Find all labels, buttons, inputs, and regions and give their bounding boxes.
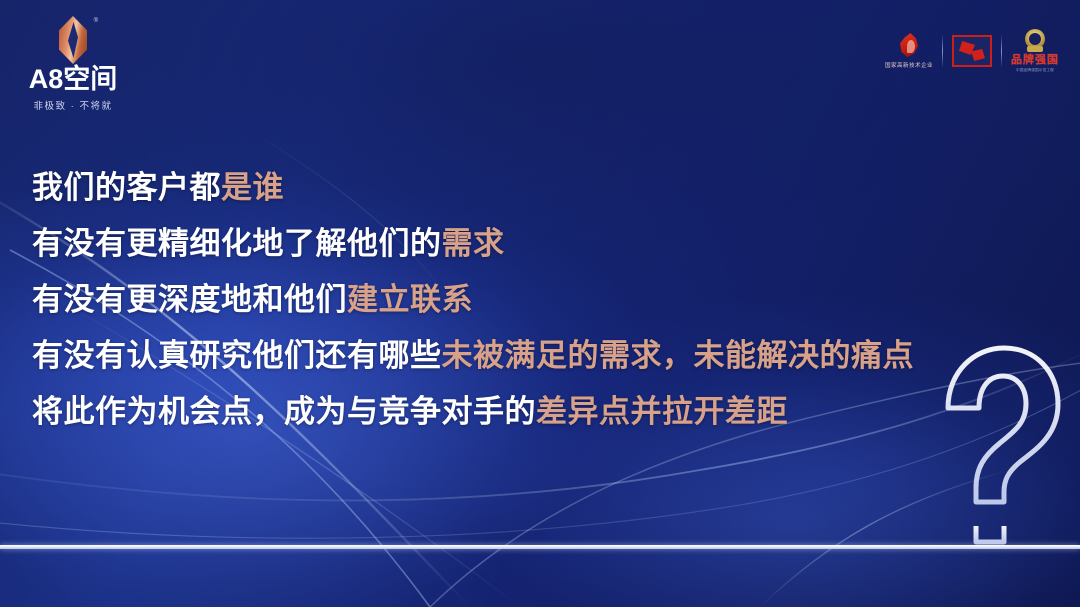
copy-line-2-plain: 有没有更精细化地了解他们的 — [32, 226, 442, 261]
slide-canvas: ® A8空间 非极致 · 不将就 国家高新技术企业 品牌强国 中国品牌强国示范工… — [0, 0, 1080, 607]
a8-diamond-logo-icon: ® — [53, 16, 93, 64]
copy-line-5-plain: 将此作为机会点，成为与竞争对手的 — [32, 394, 536, 429]
slide-header: ® A8空间 非极致 · 不将就 国家高新技术企业 品牌强国 中国品牌强国示范工… — [0, 0, 1080, 120]
copy-line-1-highlight: 是谁 — [221, 170, 284, 205]
registered-mark: ® — [94, 18, 98, 24]
copy-line-1: 我们的客户都是谁 — [32, 172, 992, 203]
copy-line-3-highlight: 建立联系 — [347, 282, 473, 317]
badge-caption-brand-power: 品牌强国 — [1011, 51, 1059, 67]
copy-line-3-plain: 有没有更深度地和他们 — [32, 282, 347, 317]
copy-line-5: 将此作为机会点，成为与竞争对手的差异点并拉开差距 — [32, 396, 992, 427]
question-mark-graphic — [932, 330, 1072, 550]
red-seal-icon — [952, 35, 992, 67]
copy-line-4: 有没有认真研究他们还有哪些未被满足的需求，未能解决的痛点 — [32, 340, 992, 371]
slide-body-copy: 我们的客户都是谁 有没有更精细化地了解他们的需求 有没有更深度地和他们建立联系 … — [32, 172, 992, 452]
flame-icon — [898, 33, 920, 59]
copy-line-2: 有没有更精细化地了解他们的需求 — [32, 228, 992, 259]
copy-line-2-highlight: 需求 — [442, 226, 505, 261]
medal-icon — [1025, 29, 1045, 49]
badge-caption-high-tech: 国家高新技术企业 — [885, 61, 933, 69]
bottom-divider-rule — [0, 545, 1080, 549]
logo-wordmark: A8空间 — [14, 66, 132, 93]
badge-brand-power: 品牌强国 中国品牌强国示范工程 — [1002, 29, 1068, 73]
badge-high-tech-enterprise: 国家高新技术企业 — [876, 33, 942, 69]
certification-badges: 国家高新技术企业 品牌强国 中国品牌强国示范工程 — [876, 22, 1068, 80]
copy-line-1-plain: 我们的客户都 — [32, 170, 221, 205]
copy-line-5-highlight: 差异点并拉开差距 — [536, 394, 788, 429]
brand-logo: ® A8空间 非极致 · 不将就 — [14, 16, 132, 112]
logo-tagline: 非极致 · 不将就 — [14, 98, 132, 112]
copy-line-4-plain: 有没有认真研究他们还有哪些 — [32, 338, 442, 373]
badge-red-seal — [943, 35, 1001, 67]
copy-line-3: 有没有更深度地和他们建立联系 — [32, 284, 992, 315]
badge-sub-brand-power: 中国品牌强国示范工程 — [1016, 68, 1054, 73]
copy-line-4-highlight: 未被满足的需求，未能解决的痛点 — [442, 338, 915, 373]
